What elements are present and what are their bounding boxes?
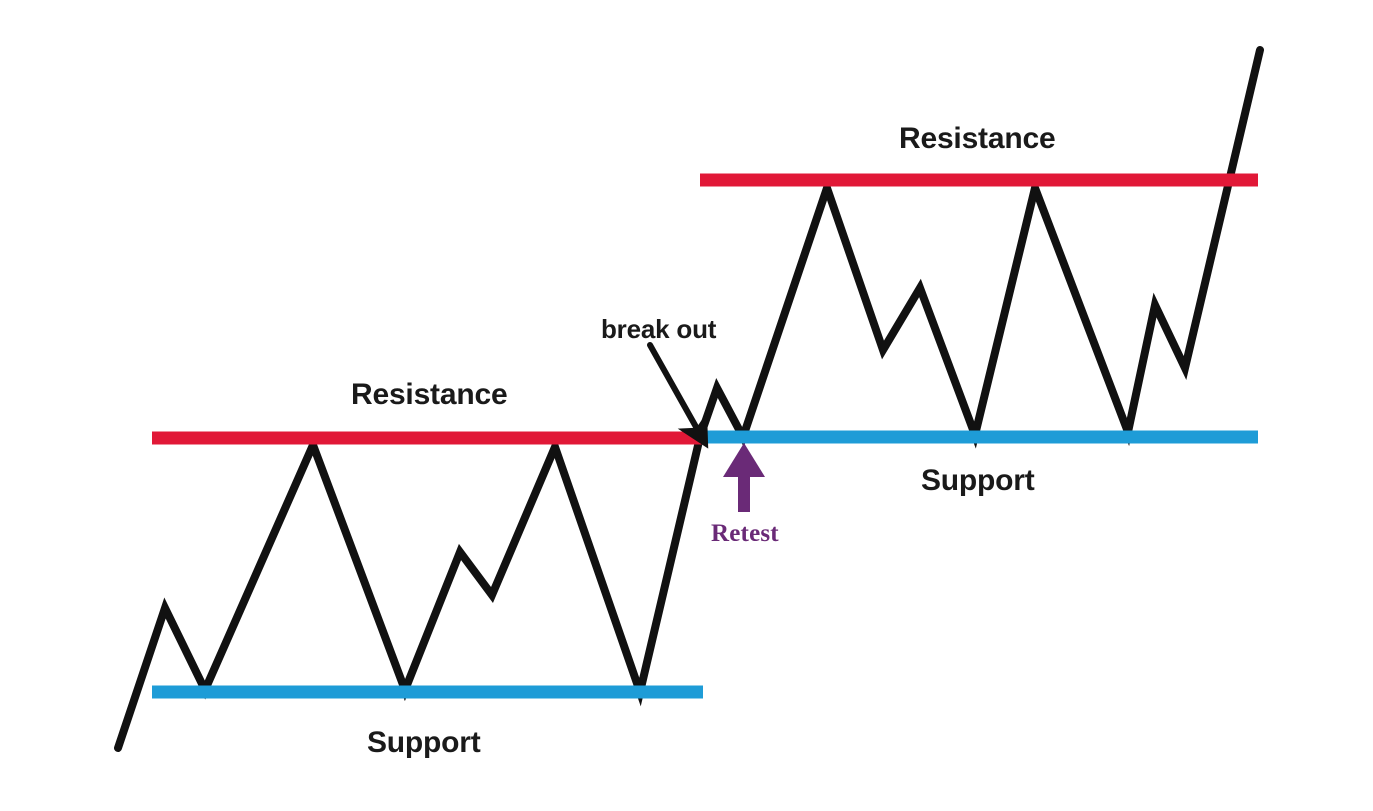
- chart-svg: [0, 0, 1373, 811]
- diagram-canvas: Resistance Support Resistance Support br…: [0, 0, 1373, 811]
- retest-label: Retest: [711, 521, 779, 546]
- breakout-arrow-icon: [650, 345, 700, 434]
- resistance-label-left: Resistance: [351, 380, 507, 410]
- support-label-right: Support: [921, 466, 1035, 496]
- breakout-label: break out: [601, 316, 716, 342]
- support-label-left: Support: [367, 728, 481, 758]
- retest-arrow-icon: [723, 443, 765, 512]
- resistance-label-right: Resistance: [899, 124, 1055, 154]
- price-line: [118, 50, 1260, 748]
